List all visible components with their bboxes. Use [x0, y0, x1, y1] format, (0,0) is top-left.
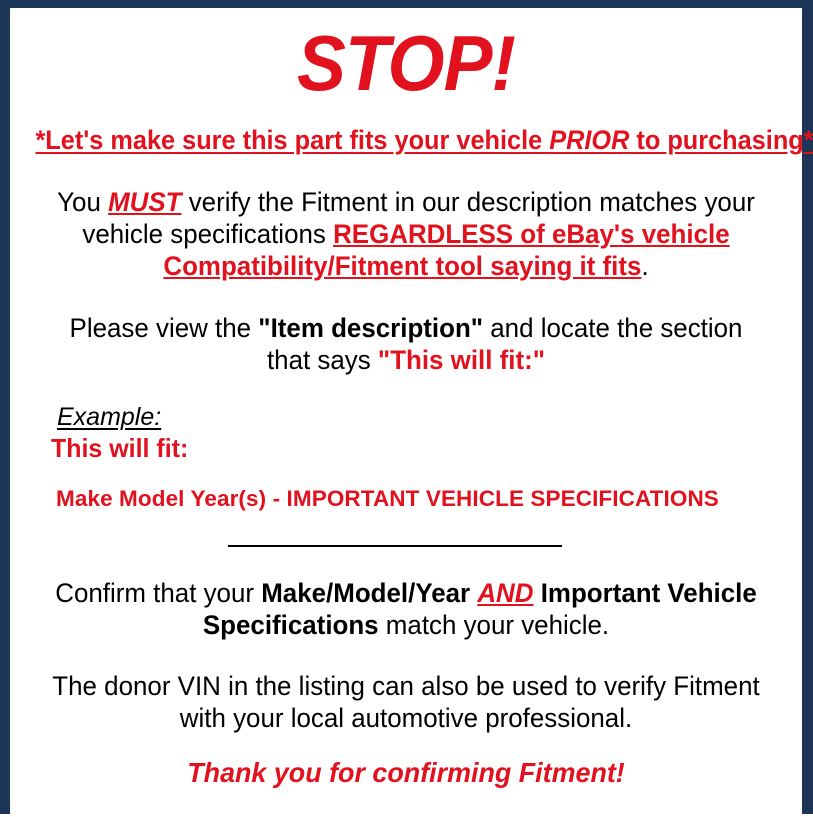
- example-label-row: Example:: [51, 404, 794, 432]
- divider-container: [18, 534, 794, 552]
- view-description-paragraph: Please view the "Item description" and l…: [34, 313, 779, 377]
- confirm-para-lead: Confirm that your: [55, 578, 261, 608]
- example-fit-heading: This will fit:: [51, 434, 764, 464]
- thank-you-message: Thank you for confirming Fitment!: [34, 757, 779, 789]
- item-description-label: "Item description": [258, 313, 483, 343]
- view-para-lead: Please view the: [70, 313, 259, 343]
- confirm-paragraph: Confirm that your Make/Model/Year AND Im…: [34, 578, 779, 642]
- fitment-notice-frame: STOP! *Let's make sure this part fits yo…: [0, 0, 813, 814]
- make-model-year-emphasis: Make/Model/Year: [261, 578, 470, 608]
- confirm-para-tail: match your vehicle.: [379, 610, 610, 640]
- must-para-period: .: [641, 251, 648, 281]
- vin-paragraph: The donor VIN in the listing can also be…: [34, 671, 779, 735]
- this-will-fit-label: "This will fit:": [378, 345, 545, 375]
- page-title: STOP!: [41, 24, 770, 102]
- must-para-lead: You: [57, 187, 108, 217]
- example-label: Example:: [57, 404, 161, 432]
- subtitle-banner: *Let's make sure this part fits your veh…: [35, 126, 776, 155]
- subtitle-lead-text: *Let's make sure this part fits your veh…: [35, 125, 549, 155]
- must-emphasis: MUST: [108, 187, 181, 217]
- notice-content: STOP! *Let's make sure this part fits yo…: [10, 24, 802, 817]
- example-spec-line: Make Model Year(s) - IMPORTANT VEHICLE S…: [56, 486, 794, 512]
- section-divider: [228, 545, 562, 547]
- subtitle-prior-emphasis: PRIOR: [549, 125, 629, 155]
- example-block: Example: This will fit: Make Model Year(…: [18, 404, 794, 511]
- and-emphasis: AND: [477, 578, 533, 608]
- subtitle-tail-text: to purchasing*: [629, 125, 813, 155]
- must-verify-paragraph: You MUST verify the Fitment in our descr…: [34, 187, 779, 283]
